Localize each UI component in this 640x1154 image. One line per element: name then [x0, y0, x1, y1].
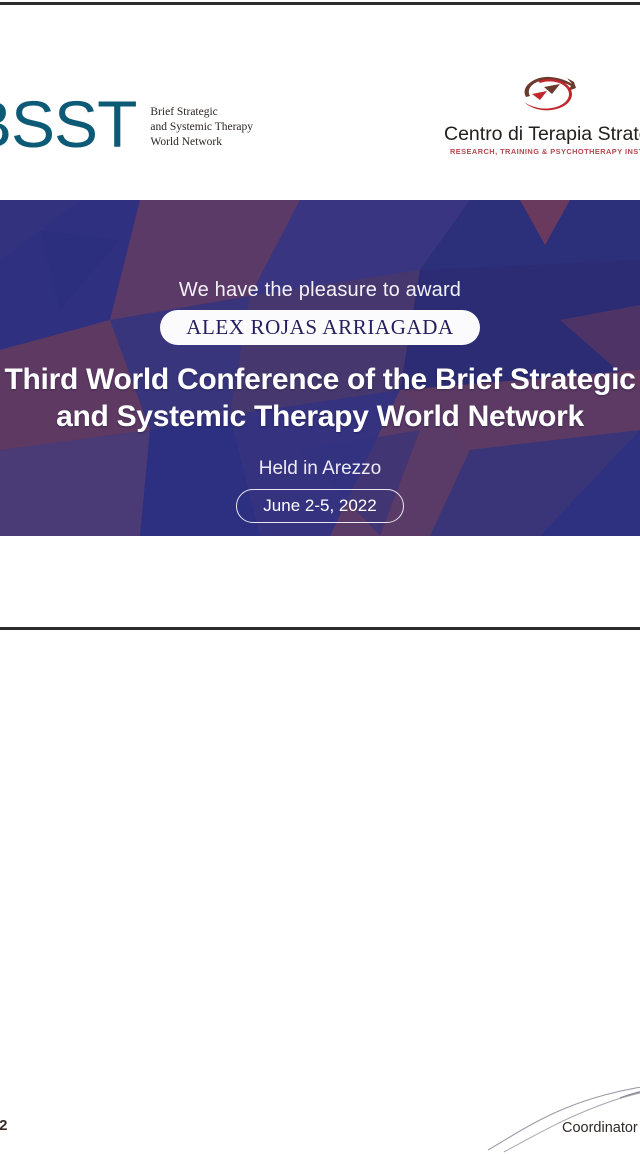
award-banner: We have the pleasure to award ALEX ROJAS…	[0, 200, 640, 536]
date-pill: June 2-5, 2022	[236, 489, 403, 523]
certificate-header: BSST Brief Strategic and Systemic Therap…	[0, 5, 640, 200]
event-dates: June 2-5, 2022	[263, 496, 376, 515]
bsst-tagline: Brief Strategic and Systemic Therapy Wor…	[150, 105, 253, 150]
conference-title-line-1: Third World Conference of the Brief Stra…	[4, 363, 635, 396]
bsst-wordmark: BSST	[0, 91, 136, 157]
cts-name: Centro di Terapia Strategica	[444, 123, 640, 145]
conference-title-line-2: and Systemic Therapy World Network	[4, 398, 635, 435]
cts-subtitle: RESEARCH, TRAINING & PSYCHOTHERAPY INSTI…	[450, 147, 640, 157]
location-text: Held in Arezzo	[259, 457, 382, 480]
certificate-footer: 022 Coordinator BS	[0, 536, 640, 627]
bsst-logo: BSST Brief Strategic and Systemic Therap…	[0, 91, 253, 157]
issue-date: 022	[0, 1117, 8, 1134]
bsst-tagline-line-1: Brief Strategic	[150, 105, 253, 120]
scan-edge-rule-bottom	[0, 627, 640, 630]
coordinator-label: Coordinator BS	[562, 1119, 640, 1137]
conference-title: Third World Conference of the Brief Stra…	[4, 361, 635, 435]
bsst-tagline-line-2: and Systemic Therapy	[150, 120, 253, 135]
certificate-page: BSST Brief Strategic and Systemic Therap…	[0, 0, 640, 640]
signature-block: Coordinator BS	[470, 1084, 640, 1154]
award-lead-text: We have the pleasure to award	[179, 278, 461, 302]
swirl-arrows-icon	[514, 67, 584, 119]
banner-content: We have the pleasure to award ALEX ROJAS…	[0, 200, 640, 536]
recipient-name: ALEX ROJAS ARRIAGADA	[186, 315, 454, 339]
recipient-name-pill: ALEX ROJAS ARRIAGADA	[160, 310, 480, 345]
bsst-tagline-line-3: World Network	[150, 135, 253, 150]
